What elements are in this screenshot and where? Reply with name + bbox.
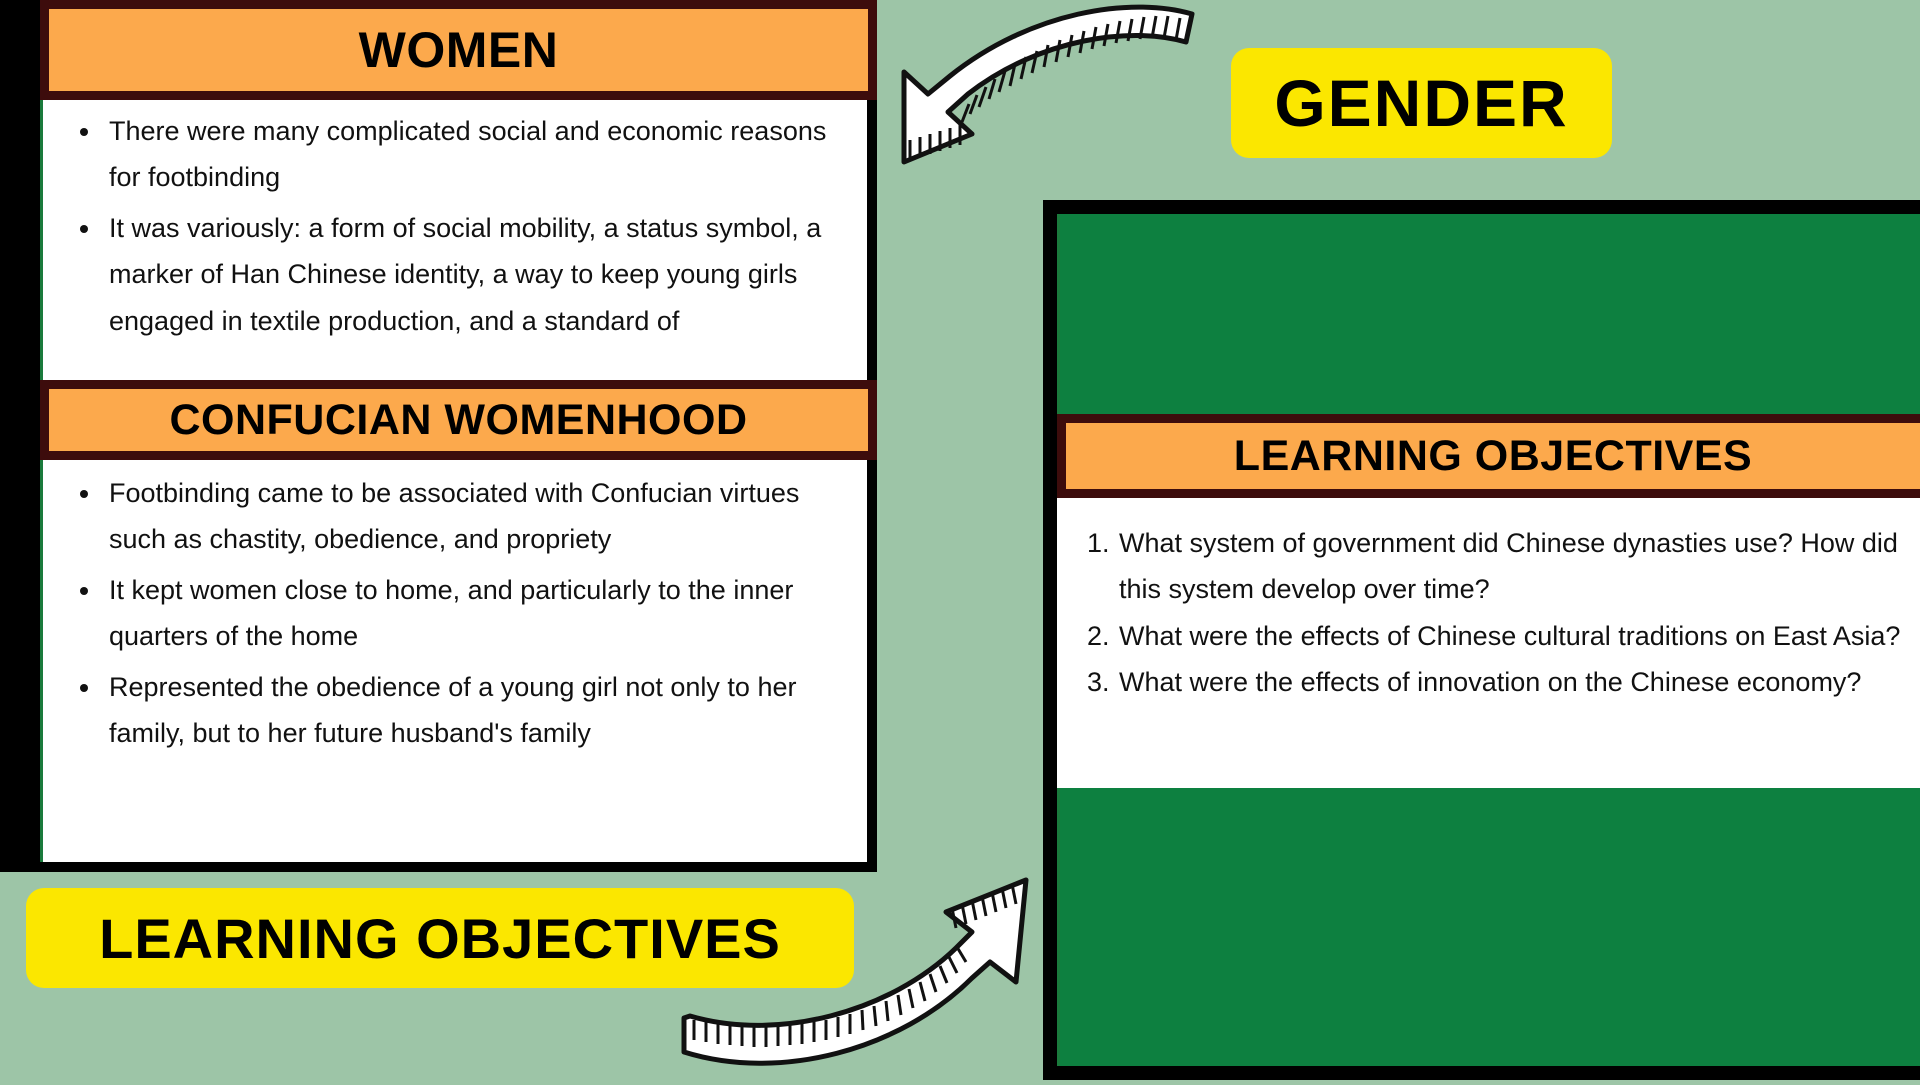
women-panel-inner: WOMEN There were many complicated social… xyxy=(40,0,867,862)
confucian-header-label: CONFUCIAN WOMENHOOD xyxy=(169,396,747,445)
learning-objectives-list: What system of government did Chinese dy… xyxy=(1057,498,1920,788)
learning-objectives-header-bar: LEARNING OBJECTIVES xyxy=(1057,414,1920,498)
list-item: What system of government did Chinese dy… xyxy=(1117,520,1901,613)
curved-arrow-down-left-icon xyxy=(880,0,1210,184)
curved-arrow-up-right-icon xyxy=(660,870,1060,1080)
list-item: It was variously: a form of social mobil… xyxy=(103,205,857,344)
list-item: It kept women close to home, and particu… xyxy=(103,567,857,660)
gender-badge: GENDER xyxy=(1231,48,1612,158)
list-item: What were the effects of innovation on t… xyxy=(1117,659,1901,705)
learning-objectives-header-label: LEARNING OBJECTIVES xyxy=(1234,432,1752,481)
learning-objectives-panel: LEARNING OBJECTIVES What system of gover… xyxy=(1043,200,1920,1080)
women-header-label: WOMEN xyxy=(359,21,559,79)
women-bullet-list: There were many complicated social and e… xyxy=(63,108,857,348)
list-item: What were the effects of Chinese cultura… xyxy=(1117,613,1901,659)
slide-canvas: WOMEN There were many complicated social… xyxy=(0,0,1920,1080)
list-item: There were many complicated social and e… xyxy=(103,108,857,201)
women-header-bar: WOMEN xyxy=(40,0,877,100)
confucian-header-bar: CONFUCIAN WOMENHOOD xyxy=(40,380,877,460)
confucian-bullet-list: Footbinding came to be associated with C… xyxy=(63,470,857,761)
list-item: Footbinding came to be associated with C… xyxy=(103,470,857,563)
gender-badge-label: GENDER xyxy=(1274,65,1568,141)
learning-objectives-panel-inner: LEARNING OBJECTIVES What system of gover… xyxy=(1057,214,1920,1066)
list-item: Represented the obedience of a young gir… xyxy=(103,664,857,757)
women-panel: WOMEN There were many complicated social… xyxy=(0,0,877,872)
